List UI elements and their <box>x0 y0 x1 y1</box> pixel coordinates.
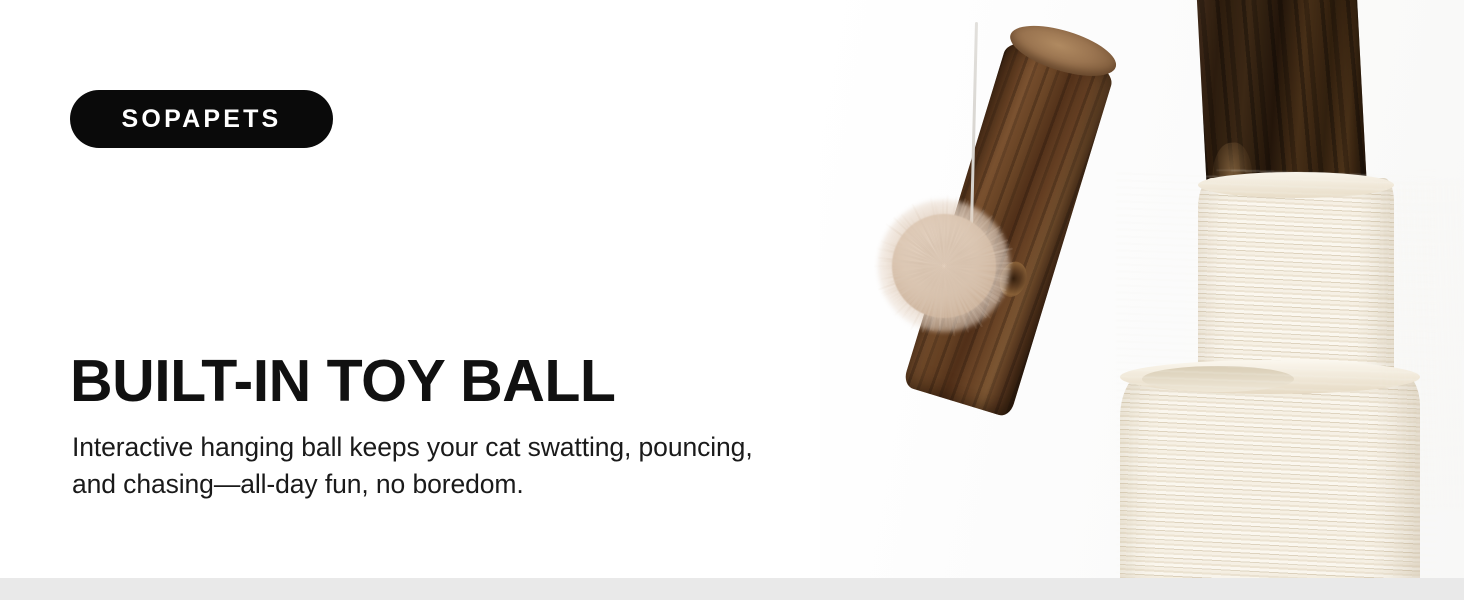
sisal-base-hollow <box>1142 366 1294 392</box>
bottom-divider-strip <box>0 578 1464 600</box>
brand-badge-label: SOPAPETS <box>122 107 282 132</box>
text-panel: SOPAPETS BUILT-IN TOY BALL Interactive h… <box>0 0 820 600</box>
sisal-upper-lip <box>1198 172 1394 198</box>
brand-badge: SOPAPETS <box>70 90 333 148</box>
sisal-rope-base-cup <box>1120 372 1420 600</box>
fur-pom-pom-toy-ball <box>878 200 1010 332</box>
sisal-edge-fibers <box>1380 180 1464 510</box>
page-title: BUILT-IN TOY BALL <box>70 352 615 411</box>
subtitle-text: Interactive hanging ball keeps your cat … <box>72 429 792 502</box>
product-image-panel <box>820 0 1464 600</box>
product-feature-banner: SOPAPETS BUILT-IN TOY BALL Interactive h… <box>0 0 1464 600</box>
